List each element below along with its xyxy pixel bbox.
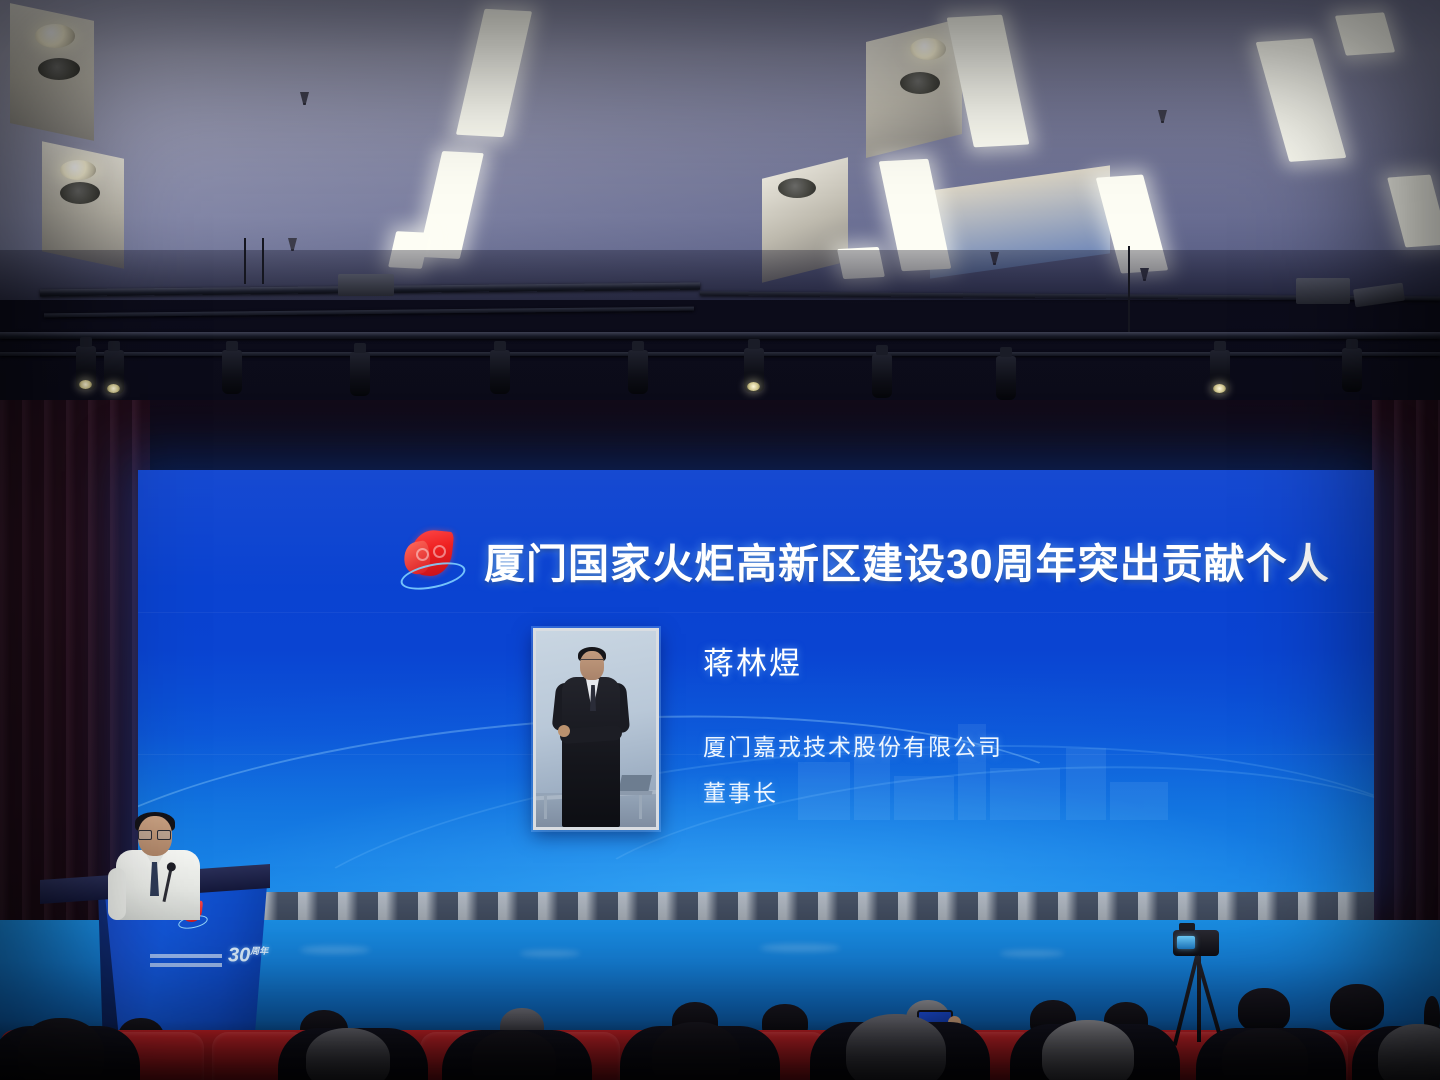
portrait-desk-leg	[544, 795, 547, 819]
portrait-glasses	[581, 659, 603, 665]
stage-spotlight	[76, 346, 96, 390]
award-title-row: 厦门国家火炬高新区建设30周年突出贡献个人	[400, 528, 1330, 592]
rig-equipment-box	[1296, 278, 1350, 304]
ceiling-downlight	[38, 58, 80, 80]
flame-swirl	[416, 548, 429, 561]
skyline-building	[894, 776, 954, 820]
audience-head	[1238, 988, 1290, 1032]
honoree-role: 董事长	[703, 774, 778, 808]
skyline-building	[1066, 748, 1106, 820]
audience-head	[1330, 984, 1384, 1030]
portrait-hand	[558, 725, 570, 737]
skyline-building	[1110, 782, 1168, 820]
ceiling-downlight	[910, 38, 946, 60]
camera-lcd-screen	[1177, 936, 1195, 949]
ceiling-downlight	[778, 178, 816, 198]
truss-beam	[44, 307, 694, 318]
skyline-building	[798, 762, 850, 820]
speaker-glasses	[138, 830, 171, 838]
podium-banner-text	[150, 949, 222, 967]
spotlight-lens	[107, 384, 120, 393]
truss-beam	[0, 332, 1440, 339]
stage-spotlight	[628, 350, 648, 394]
stage-spotlight	[490, 350, 510, 394]
stage-spotlight	[996, 356, 1016, 400]
award-title: 厦门国家火炬高新区建设30周年突出贡献个人	[484, 530, 1330, 590]
audience-head	[306, 1028, 390, 1080]
conference-stage-photo: 厦门国家火炬高新区建设30周年突出贡献个人 蒋林煜	[0, 0, 1440, 1080]
stage-spotlight	[350, 352, 370, 396]
torch-flame-logo	[400, 528, 466, 592]
portrait-desk-leg	[639, 795, 642, 819]
rig-cable	[244, 238, 246, 284]
led-panel-seam	[138, 612, 1374, 613]
floor-reflection	[300, 946, 370, 954]
stage-spotlight	[222, 350, 242, 394]
speaker-arm	[108, 868, 126, 920]
floor-reflection	[760, 944, 840, 952]
honoree-portrait-frame	[533, 628, 659, 830]
rig-cable	[1128, 246, 1130, 332]
stage-valance	[0, 400, 1440, 472]
tripod-leg	[1197, 956, 1201, 1042]
rig-equipment-box	[338, 274, 394, 296]
audience-head	[1222, 1028, 1308, 1080]
spotlight-lens	[1213, 384, 1226, 393]
spotlight-lens	[79, 380, 92, 389]
stage-spotlight	[104, 350, 124, 394]
portrait-laptop	[618, 775, 652, 793]
stage-spotlight	[744, 348, 764, 392]
video-camera	[1173, 930, 1219, 956]
stage-spotlight	[872, 354, 892, 398]
portrait-head	[580, 651, 604, 680]
skyline-building	[990, 768, 1060, 820]
floor-reflection	[1000, 950, 1064, 957]
honoree-portrait	[536, 631, 656, 827]
rig-cable	[262, 238, 264, 284]
audience-head	[1042, 1020, 1134, 1080]
ceiling-downlight	[35, 24, 75, 48]
ceiling-downlight	[60, 182, 100, 204]
floor-reflection	[520, 950, 580, 957]
tripod-leg	[1173, 956, 1199, 1046]
audience-head	[472, 1030, 556, 1080]
podium-anniversary-mark: 30周年	[228, 944, 268, 968]
stage-spotlight	[1342, 348, 1362, 392]
anniversary-suffix: 周年	[250, 946, 268, 956]
ceiling-downlight	[900, 72, 940, 94]
honoree-name: 蒋林煜	[703, 638, 802, 683]
led-presentation-screen: 厦门国家火炬高新区建设30周年突出贡献个人 蒋林煜	[138, 470, 1374, 896]
anniversary-number: 30	[228, 945, 250, 967]
ceiling-downlight	[60, 160, 96, 180]
audience-head	[846, 1014, 946, 1080]
honoree-company: 厦门嘉戎技术股份有限公司	[703, 728, 1003, 762]
audience-head	[18, 1018, 104, 1080]
speaker-at-podium	[108, 812, 218, 912]
spotlight-lens	[747, 382, 760, 391]
rig-equipment-box	[1353, 283, 1405, 308]
flame-swirl	[433, 545, 446, 558]
stage-spotlight	[1210, 350, 1230, 394]
audience-head	[652, 1022, 740, 1080]
